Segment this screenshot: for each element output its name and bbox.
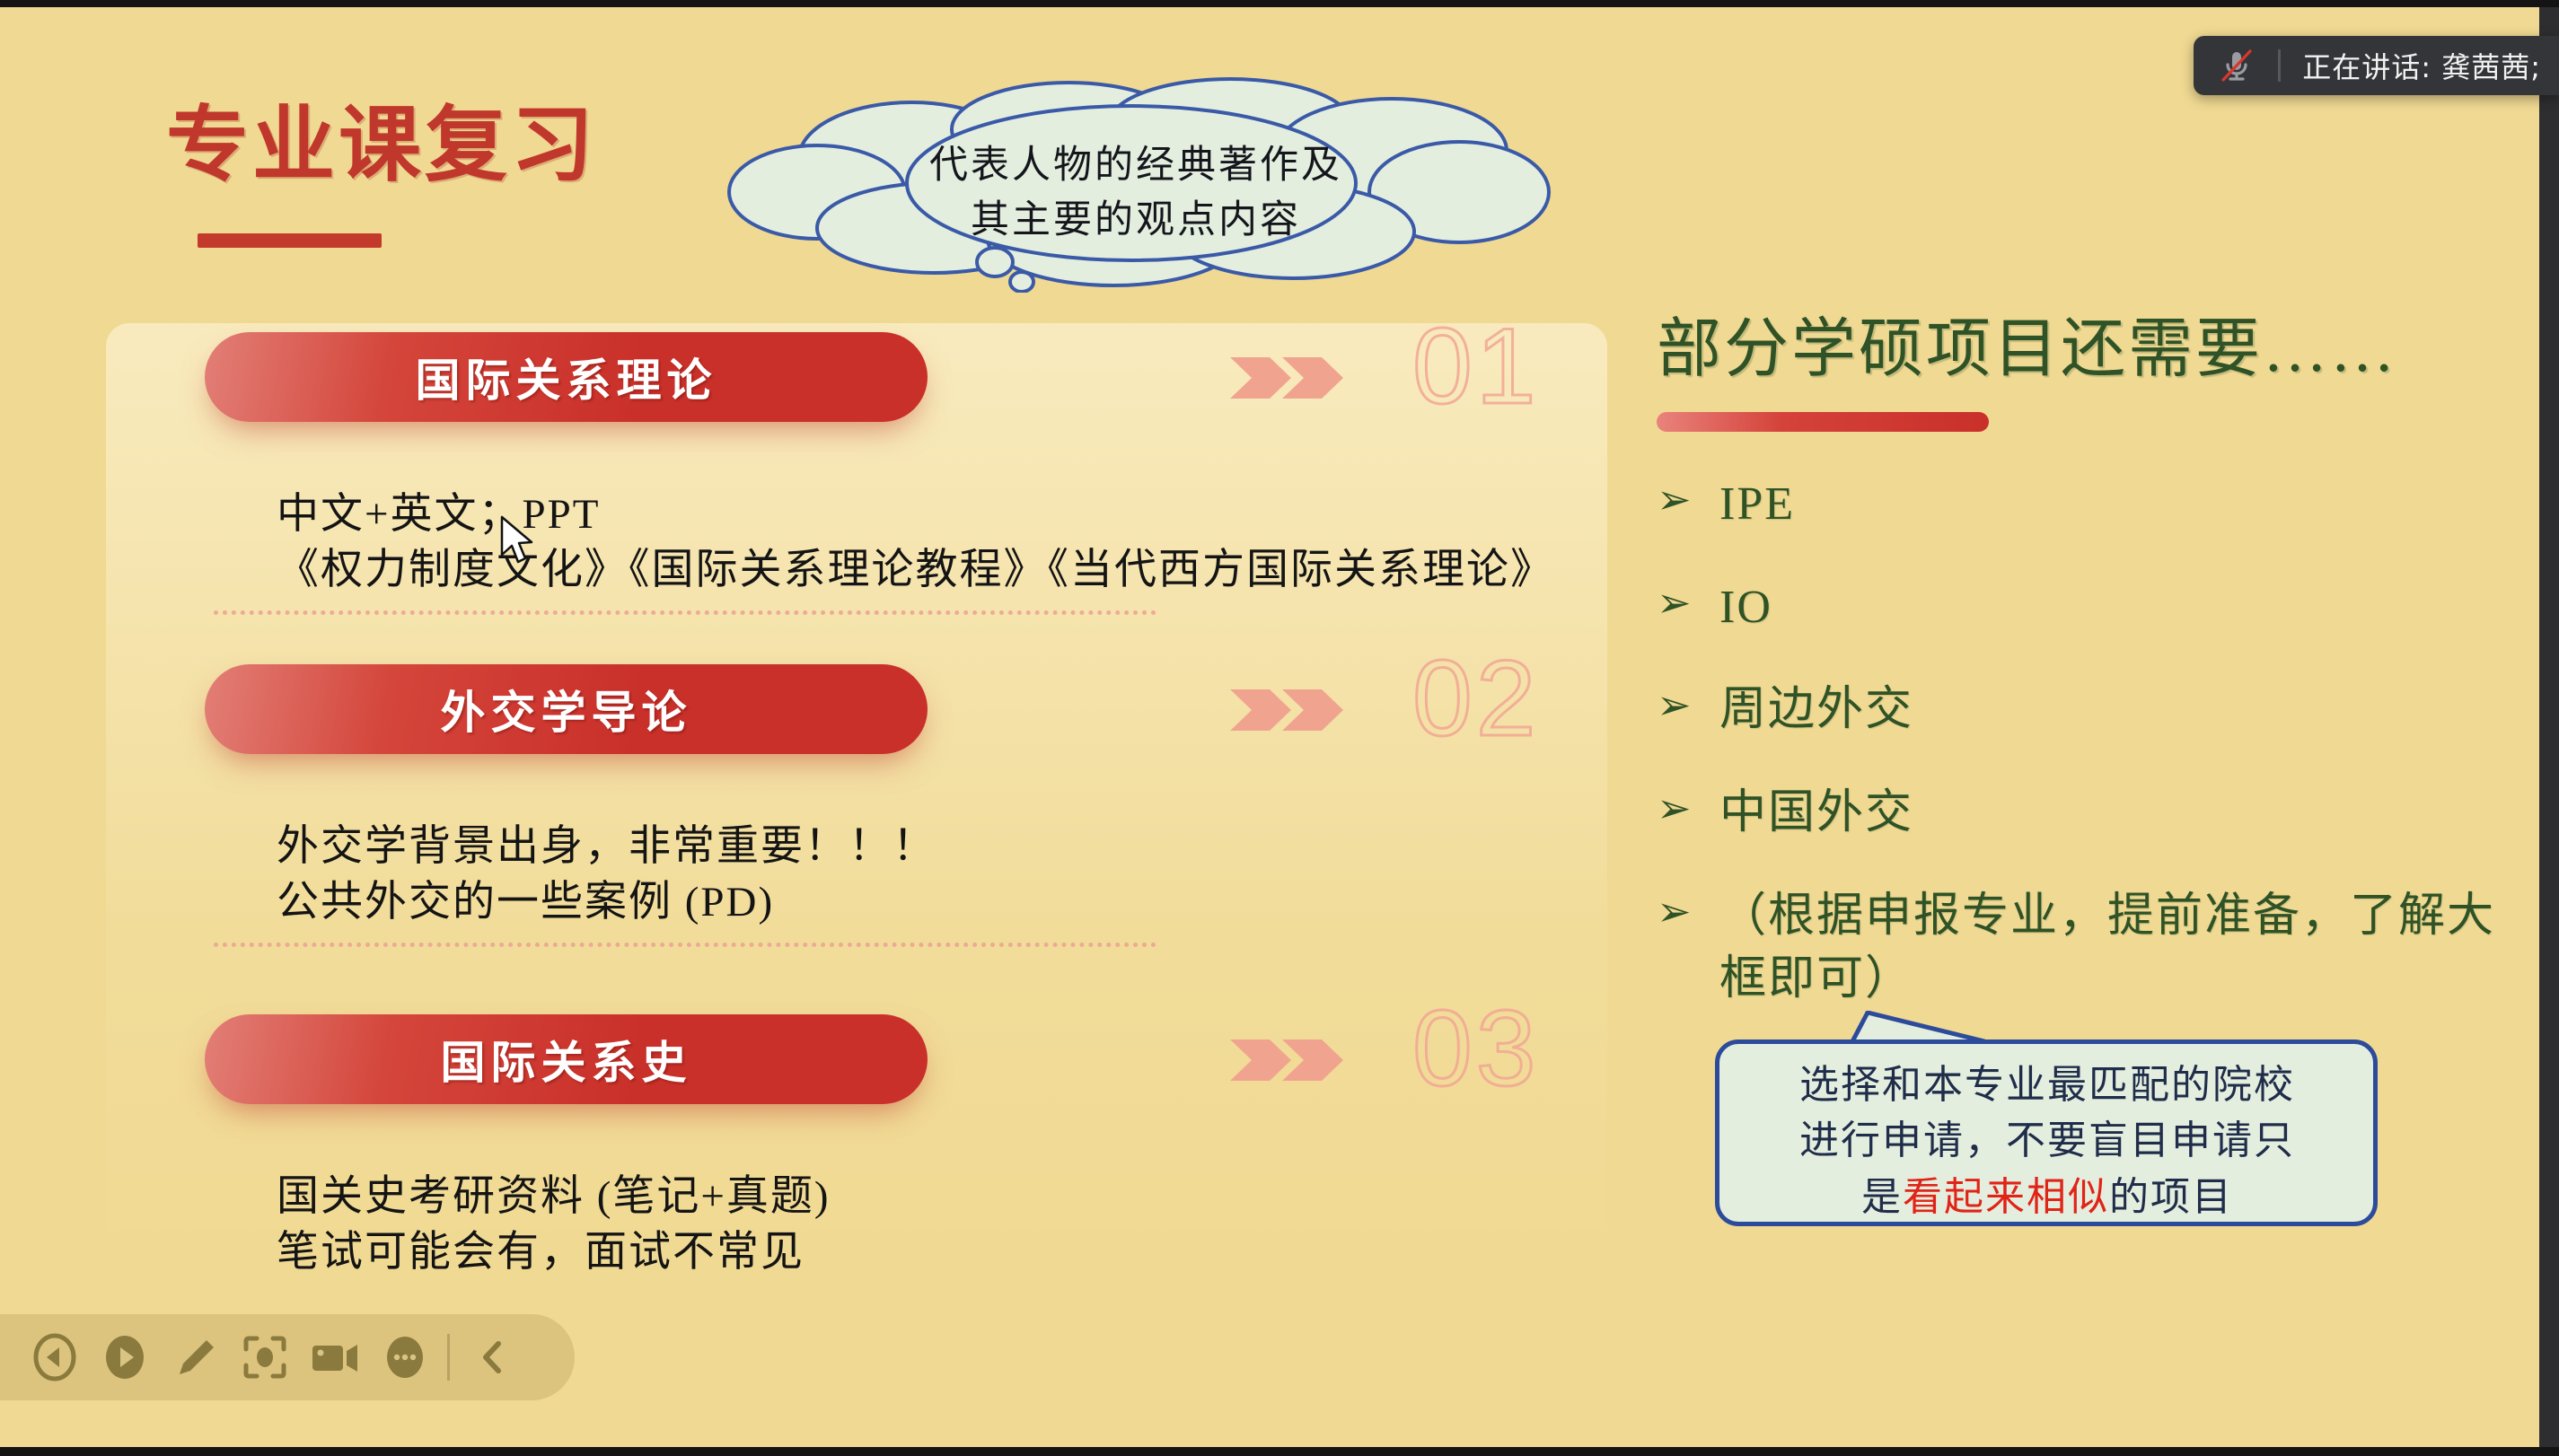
presentation-toolbar [0, 1314, 575, 1400]
badge-divider [2278, 49, 2281, 82]
list-item: ➢ （根据申报专业，提前准备，了解大框即可） [1657, 885, 2519, 1012]
right-column: 部分学硕项目还需要…… ➢ IPE ➢ IO ➢ 周边外交 ➢ 中国外交 [1657, 312, 2519, 1051]
section-01-number: 01 [1412, 312, 1539, 420]
right-column-bullet-list: ➢ IPE ➢ IO ➢ 周边外交 ➢ 中国外交 ➢ （根据申报专业，提前准 [1657, 473, 2519, 1012]
thought-cloud-line1: 代表人物的经典著作及 [709, 138, 1562, 193]
callout-line3: 是看起来相似的项目 [1715, 1170, 2379, 1225]
window-right-band [2539, 0, 2559, 1456]
callout-line3-suffix: 的项目 [2109, 1175, 2233, 1219]
microphone-muted-icon [2217, 46, 2256, 85]
arrow-bullet-icon: ➢ [1657, 473, 1719, 520]
next-icon [101, 1333, 149, 1381]
callout-line2: 进行申请，不要盲目申请只 [1715, 1113, 2379, 1169]
list-item: ➢ IPE [1657, 473, 2519, 537]
list-item: ➢ 中国外交 [1657, 782, 2519, 846]
speaking-status-text: 正在讲话: 龚茜茜; [2302, 45, 2541, 86]
section-02-label: 外交学导论 [441, 677, 692, 741]
window-bottom-strip [0, 1447, 2559, 1456]
section-03-line-1: 国关史考研资料 (笔记+真题) [277, 1176, 831, 1218]
spotlight-icon [241, 1333, 289, 1381]
pen-icon [171, 1333, 219, 1381]
pen-tool-button[interactable] [160, 1322, 230, 1392]
section-01-label: 国际关系理论 [416, 345, 717, 409]
prev-slide-button[interactable] [20, 1322, 90, 1392]
chevron-left-icon [468, 1333, 516, 1381]
callout-line1: 选择和本专业最匹配的院校 [1715, 1057, 2379, 1113]
more-icon [381, 1333, 429, 1381]
list-item-label: IO [1719, 576, 1772, 640]
collapse-toolbar-button[interactable] [457, 1322, 527, 1392]
section-02-line-1: 外交学背景出身，非常重要！！！ [277, 826, 937, 868]
arrow-bullet-icon: ➢ [1657, 576, 1719, 623]
section-divider-1 [214, 610, 1156, 615]
section-01-line-2: 《权力制度文化》《国际关系理论教程》《当代西方国际关系理论》 [277, 549, 1554, 592]
arrow-bullet-icon: ➢ [1657, 679, 1719, 725]
section-02-line-2: 公共外交的一些案例 (PD) [277, 881, 774, 924]
advice-callout: 选择和本专业最匹配的院校 进行申请，不要盲目申请只 是看起来相似的项目 [1715, 1011, 2379, 1235]
arrow-bullet-icon: ➢ [1657, 782, 1719, 829]
status-badge: 正在讲话: 龚茜茜; [2194, 36, 2559, 95]
section-01-line-1: 中文+英文；PPT [277, 494, 601, 536]
screen-root: 专业课复习 [0, 0, 2559, 1456]
presentation-slide: 专业课复习 [0, 7, 2539, 1447]
toolbar-divider [447, 1334, 450, 1381]
double-chevron-icon [1228, 1034, 1345, 1086]
thought-cloud: 代表人物的经典著作及 其主要的观点内容 [709, 77, 1562, 293]
list-item: ➢ 周边外交 [1657, 679, 2519, 742]
page-title: 专业课复习 [166, 104, 597, 187]
section-03-line-2: 笔试可能会有，面试不常见 [277, 1232, 805, 1274]
callout-line3-prefix: 是 [1861, 1175, 1903, 1219]
list-item-label: 周边外交 [1719, 679, 1913, 742]
thought-cloud-line2: 其主要的观点内容 [709, 193, 1562, 248]
more-options-button[interactable] [370, 1322, 440, 1392]
list-item-label: 中国外交 [1719, 782, 1913, 846]
previous-icon [31, 1333, 79, 1381]
camcorder-icon [309, 1333, 361, 1381]
section-03-label: 国际关系史 [441, 1027, 692, 1092]
next-slide-button[interactable] [90, 1322, 160, 1392]
sections-panel: 国际关系理论 01 中文+英文；PPT 《权力制度文化》《国际关系理论教程》《当… [106, 323, 1607, 1293]
section-03-number: 03 [1412, 995, 1539, 1102]
list-item-label: IPE [1719, 473, 1795, 537]
section-01-pill[interactable]: 国际关系理论 [205, 332, 928, 422]
double-chevron-icon [1228, 352, 1345, 404]
double-chevron-icon [1228, 684, 1345, 736]
thought-cloud-text: 代表人物的经典著作及 其主要的观点内容 [709, 138, 1562, 248]
right-column-heading: 部分学硕项目还需要…… [1657, 312, 2519, 387]
section-02-pill[interactable]: 外交学导论 [205, 664, 928, 754]
window-top-strip [0, 0, 2559, 7]
callout-text: 选择和本专业最匹配的院校 进行申请，不要盲目申请只 是看起来相似的项目 [1715, 1057, 2379, 1225]
section-divider-2 [214, 943, 1156, 947]
right-heading-underline-bar [1657, 412, 1989, 432]
list-item-label: （根据申报专业，提前准备，了解大框即可） [1719, 885, 2519, 1012]
spotlight-button[interactable] [230, 1322, 300, 1392]
section-02-number: 02 [1412, 645, 1539, 752]
title-underline-bar [198, 233, 382, 248]
record-button[interactable] [300, 1322, 370, 1392]
callout-line3-highlight: 看起来相似 [1903, 1175, 2109, 1219]
section-03-pill[interactable]: 国际关系史 [205, 1014, 928, 1104]
list-item: ➢ IO [1657, 576, 2519, 640]
arrow-bullet-icon: ➢ [1657, 885, 1719, 932]
